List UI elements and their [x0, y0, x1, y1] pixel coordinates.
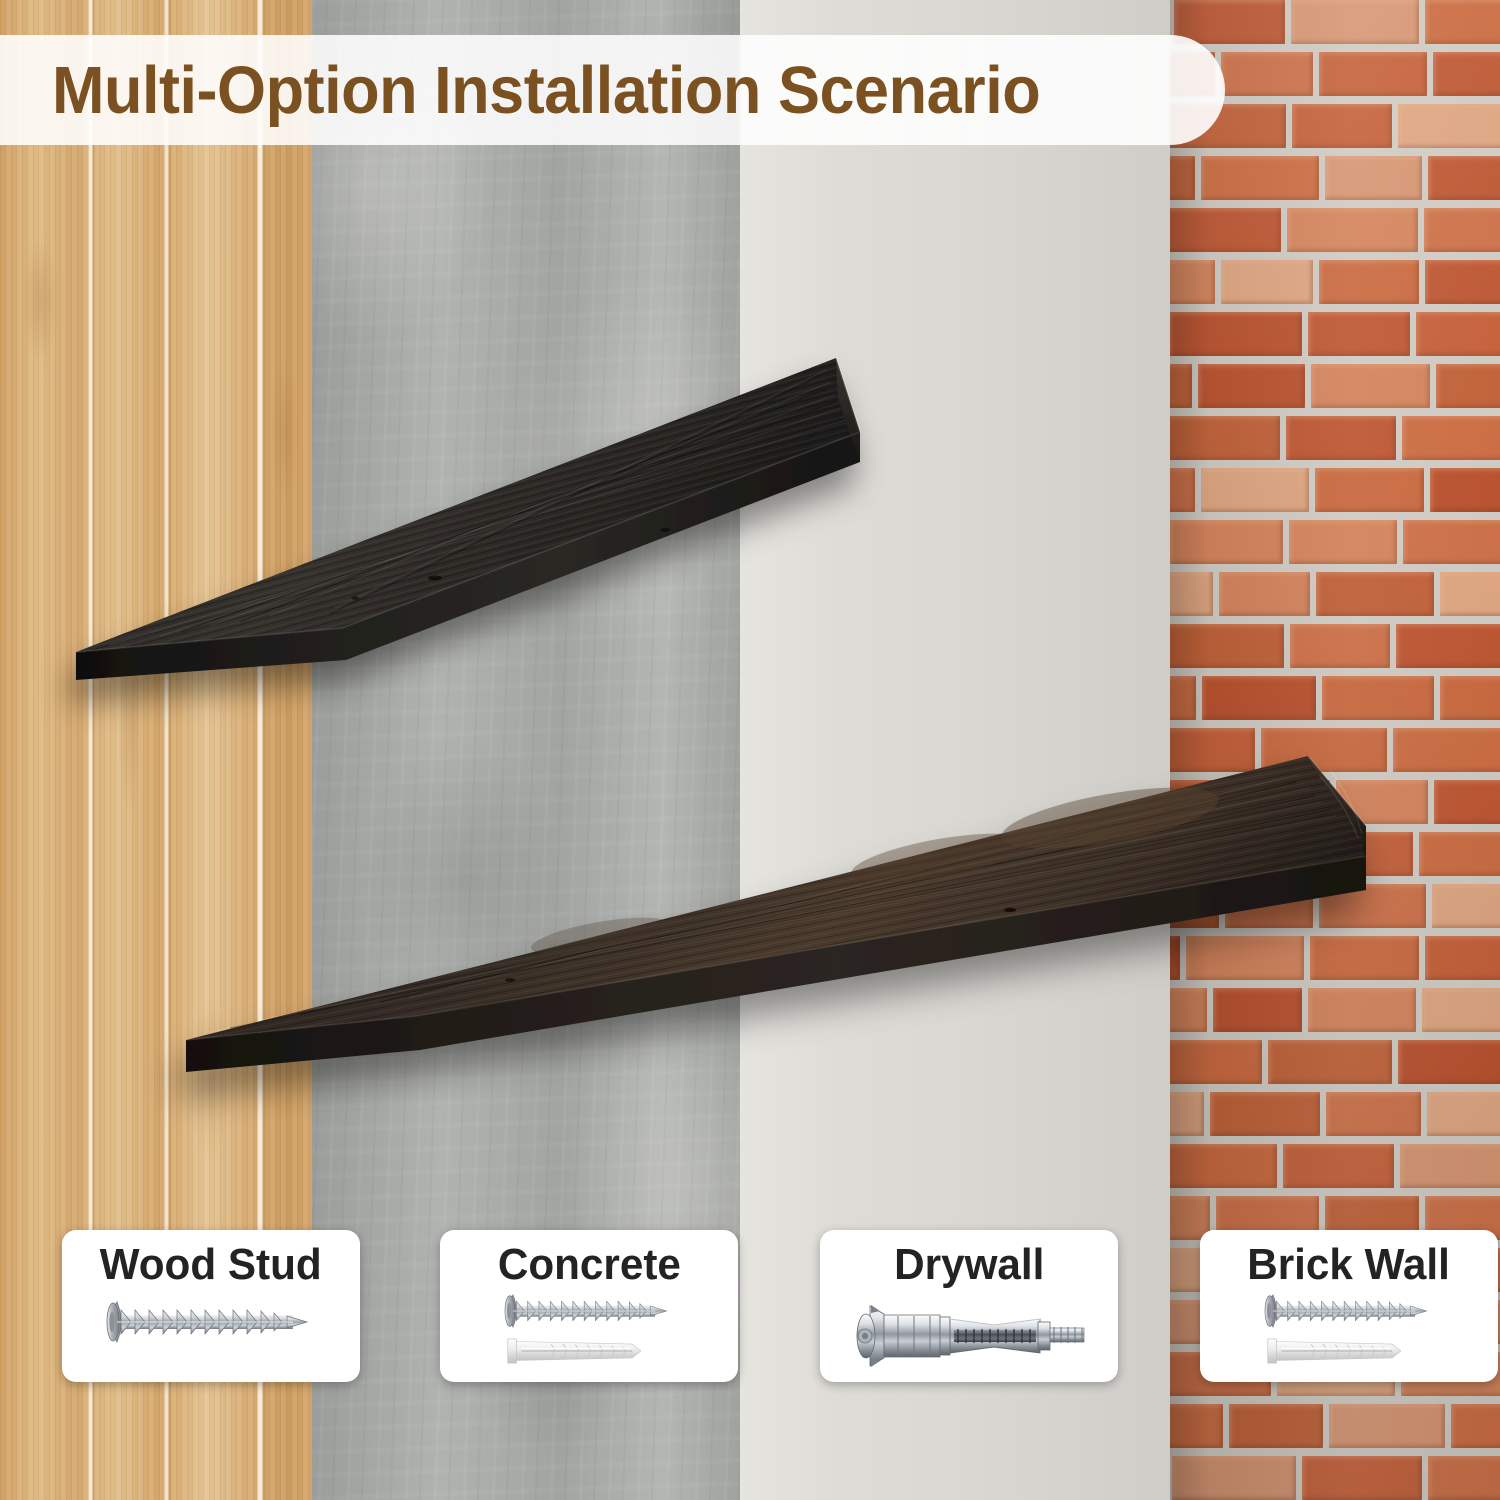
- brick: [1326, 1092, 1421, 1136]
- plastic-wall-anchor-icon: [502, 1332, 677, 1370]
- brick: [1308, 988, 1416, 1032]
- brick-row: [1170, 624, 1500, 676]
- brick-row: [1170, 364, 1500, 416]
- brick: [1170, 1144, 1277, 1188]
- brick: [1201, 156, 1319, 200]
- brick: [1186, 936, 1304, 980]
- brick-row: [1170, 520, 1500, 572]
- brick: [1291, 0, 1419, 44]
- brick: [1170, 468, 1195, 512]
- hardware-card-drywall[interactable]: Drywall: [820, 1230, 1118, 1382]
- brick: [1170, 260, 1215, 304]
- brick-row: [1170, 312, 1500, 364]
- brick-row: [1170, 260, 1500, 312]
- brick: [1290, 624, 1390, 668]
- brick: [1261, 728, 1387, 772]
- card-hardware-brick-wall: [1200, 1288, 1498, 1382]
- brick: [1170, 728, 1255, 772]
- brick: [1311, 364, 1430, 408]
- brick: [1177, 832, 1281, 876]
- brick-row: [1170, 676, 1500, 728]
- brick: [1428, 1456, 1500, 1500]
- brick: [1170, 572, 1213, 616]
- brick: [1419, 832, 1500, 876]
- brick: [1398, 104, 1500, 148]
- brick: [1322, 676, 1434, 720]
- brick: [1170, 364, 1192, 408]
- brick: [1425, 0, 1500, 44]
- brick: [1170, 832, 1171, 876]
- card-label-concrete: Concrete: [497, 1242, 680, 1288]
- brick: [1430, 468, 1500, 512]
- title-banner: Multi-Option Installation Scenario: [0, 35, 1225, 145]
- brick-row: [1170, 0, 1500, 52]
- brick: [1170, 208, 1281, 252]
- brick: [1310, 936, 1419, 980]
- card-label-drywall: Drywall: [894, 1242, 1044, 1288]
- brick: [1170, 312, 1302, 356]
- brick: [1170, 1040, 1262, 1084]
- card-hardware-wood-stud: [62, 1288, 360, 1382]
- brick-row: [1170, 728, 1500, 780]
- brick: [1170, 988, 1207, 1032]
- card-label-brick-wall: Brick Wall: [1248, 1242, 1451, 1288]
- brick: [1170, 520, 1283, 564]
- brick: [1172, 1456, 1296, 1500]
- brick: [1451, 1404, 1500, 1448]
- brick: [1316, 572, 1434, 616]
- brick: [1286, 416, 1395, 460]
- hardware-card-concrete[interactable]: Concrete: [440, 1230, 738, 1382]
- brick: [1427, 1092, 1500, 1136]
- card-label-wood-stud: Wood Stud: [100, 1242, 322, 1288]
- card-hardware-drywall: [820, 1288, 1118, 1382]
- brick: [1396, 624, 1500, 668]
- brick: [1428, 156, 1500, 200]
- brick: [1221, 260, 1313, 304]
- brick: [1202, 676, 1316, 720]
- brick-row: [1170, 780, 1500, 832]
- wood-screw-icon: [1249, 1290, 1449, 1332]
- brick: [1432, 884, 1500, 928]
- brick: [1403, 520, 1500, 564]
- brick: [1287, 208, 1418, 252]
- brick: [1422, 988, 1500, 1032]
- hardware-card-brick-wall[interactable]: Brick Wall: [1200, 1230, 1498, 1382]
- brick-row: [1170, 1404, 1500, 1456]
- brick: [1393, 728, 1500, 772]
- brick-row: [1170, 208, 1500, 260]
- brick: [1213, 988, 1302, 1032]
- card-hardware-concrete: [440, 1288, 738, 1382]
- brick: [1325, 156, 1422, 200]
- brick: [1302, 1456, 1422, 1500]
- brick: [1440, 676, 1500, 720]
- brick: [1221, 52, 1313, 96]
- page-title: Multi-Option Installation Scenario: [52, 52, 1040, 129]
- brick: [1315, 468, 1425, 512]
- brick: [1308, 312, 1411, 356]
- brick-row: [1170, 988, 1500, 1040]
- molly-bolt-anchor-icon: [844, 1300, 1094, 1372]
- brick: [1424, 208, 1500, 252]
- brick-row: [1170, 1456, 1500, 1500]
- brick-row: [1170, 832, 1500, 884]
- hardware-card-row: Wood Stud: [0, 1230, 1500, 1385]
- brick: [1201, 468, 1309, 512]
- brick: [1292, 104, 1393, 148]
- brick: [1170, 1092, 1204, 1136]
- brick: [1170, 156, 1195, 200]
- brick: [1170, 1404, 1223, 1448]
- brick: [1440, 572, 1500, 616]
- brick-row: [1170, 416, 1500, 468]
- brick: [1433, 52, 1500, 96]
- brick: [1425, 260, 1500, 304]
- brick-row: [1170, 884, 1500, 936]
- brick: [1402, 416, 1500, 460]
- brick: [1319, 52, 1427, 96]
- brick-row: [1170, 936, 1500, 988]
- brick: [1170, 676, 1196, 720]
- brick-row: [1170, 1092, 1500, 1144]
- brick: [1170, 780, 1222, 824]
- brick: [1198, 364, 1306, 408]
- brick: [1170, 884, 1219, 928]
- brick-row: [1170, 468, 1500, 520]
- brick: [1229, 1404, 1322, 1448]
- brick: [1319, 884, 1426, 928]
- brick: [1283, 1144, 1393, 1188]
- wood-screw-icon: [489, 1290, 689, 1332]
- brick: [1174, 0, 1285, 44]
- brick: [1268, 1040, 1393, 1084]
- brick: [1398, 1040, 1500, 1084]
- product-scene: Multi-Option Installation Scenario Wood …: [0, 0, 1500, 1500]
- brick: [1219, 572, 1310, 616]
- brick: [1434, 780, 1500, 824]
- brick: [1400, 1144, 1500, 1188]
- brick: [1228, 780, 1330, 824]
- brick-row: [1170, 572, 1500, 624]
- brick-row: [1170, 1040, 1500, 1092]
- brick-row: [1170, 1144, 1500, 1196]
- brick: [1425, 936, 1500, 980]
- wood-screw-icon: [91, 1296, 331, 1348]
- plastic-wall-anchor-icon: [1262, 1332, 1437, 1370]
- brick: [1170, 936, 1180, 980]
- brick: [1210, 1092, 1320, 1136]
- brick: [1329, 1404, 1445, 1448]
- brick: [1287, 832, 1413, 876]
- brick: [1289, 520, 1397, 564]
- brick: [1225, 884, 1313, 928]
- hardware-card-wood-stud[interactable]: Wood Stud: [62, 1230, 360, 1382]
- brick: [1170, 416, 1280, 460]
- brick-row: [1170, 156, 1500, 208]
- brick: [1336, 780, 1428, 824]
- brick: [1436, 364, 1500, 408]
- brick: [1416, 312, 1500, 356]
- brick: [1319, 260, 1419, 304]
- brick: [1170, 624, 1284, 668]
